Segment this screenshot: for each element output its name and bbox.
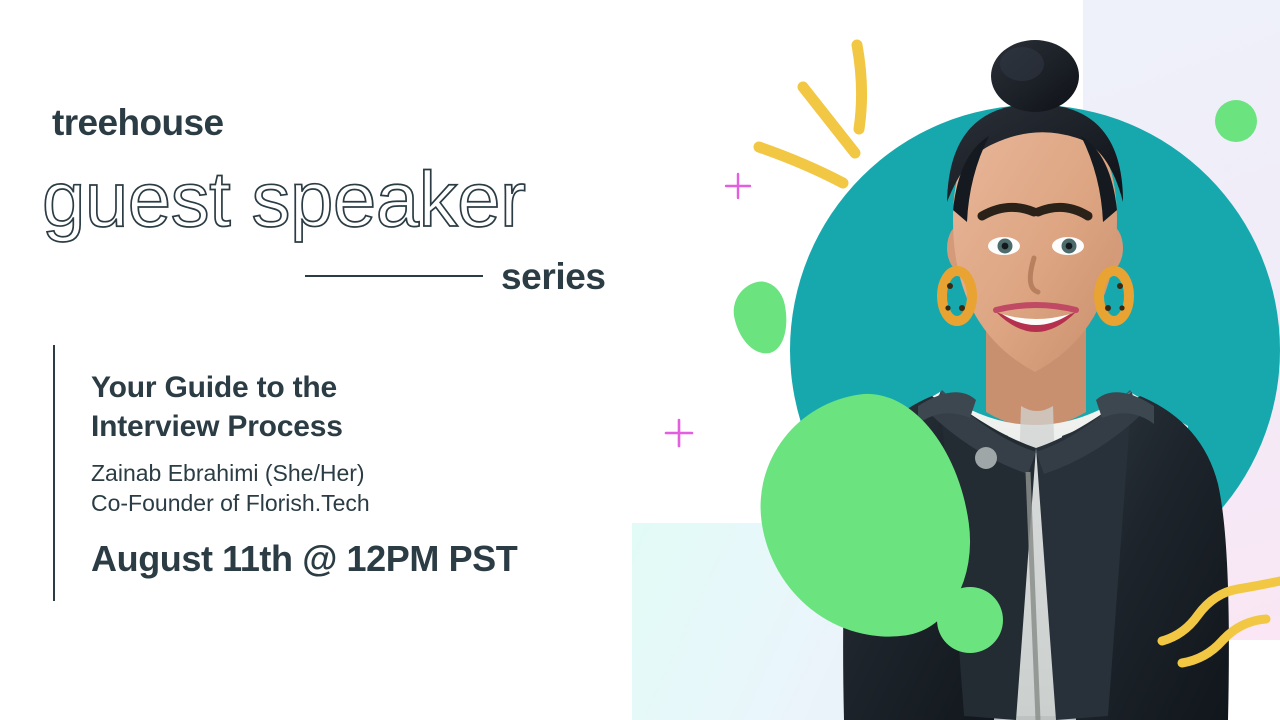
page-title: guest speaker [42,160,525,238]
event-datetime: August 11th @ 12PM PST [91,541,631,577]
brand-wordmark: treehouse [52,104,223,141]
talk-title: Your Guide to the Interview Process [91,368,631,446]
wavy-lines-icon [1160,575,1280,675]
speaker-role: Co-Founder of Florish.Tech [91,488,631,518]
promo-slide: treehouse guest speaker series Your Guid… [0,0,1280,720]
plus-mark-icon [724,172,752,200]
talk-details: Your Guide to the Interview Process Zain… [91,368,631,577]
series-label: series [501,258,606,295]
speaker-name: Zainab Ebrahimi (She/Her) [91,458,631,488]
info-divider [53,345,55,601]
circle-icon [937,587,1003,653]
organic-blob-icon [728,277,794,358]
series-divider [305,275,483,277]
series-row: series [305,252,625,300]
sparkle-rays-icon [745,35,915,195]
plus-mark-icon [664,418,694,448]
